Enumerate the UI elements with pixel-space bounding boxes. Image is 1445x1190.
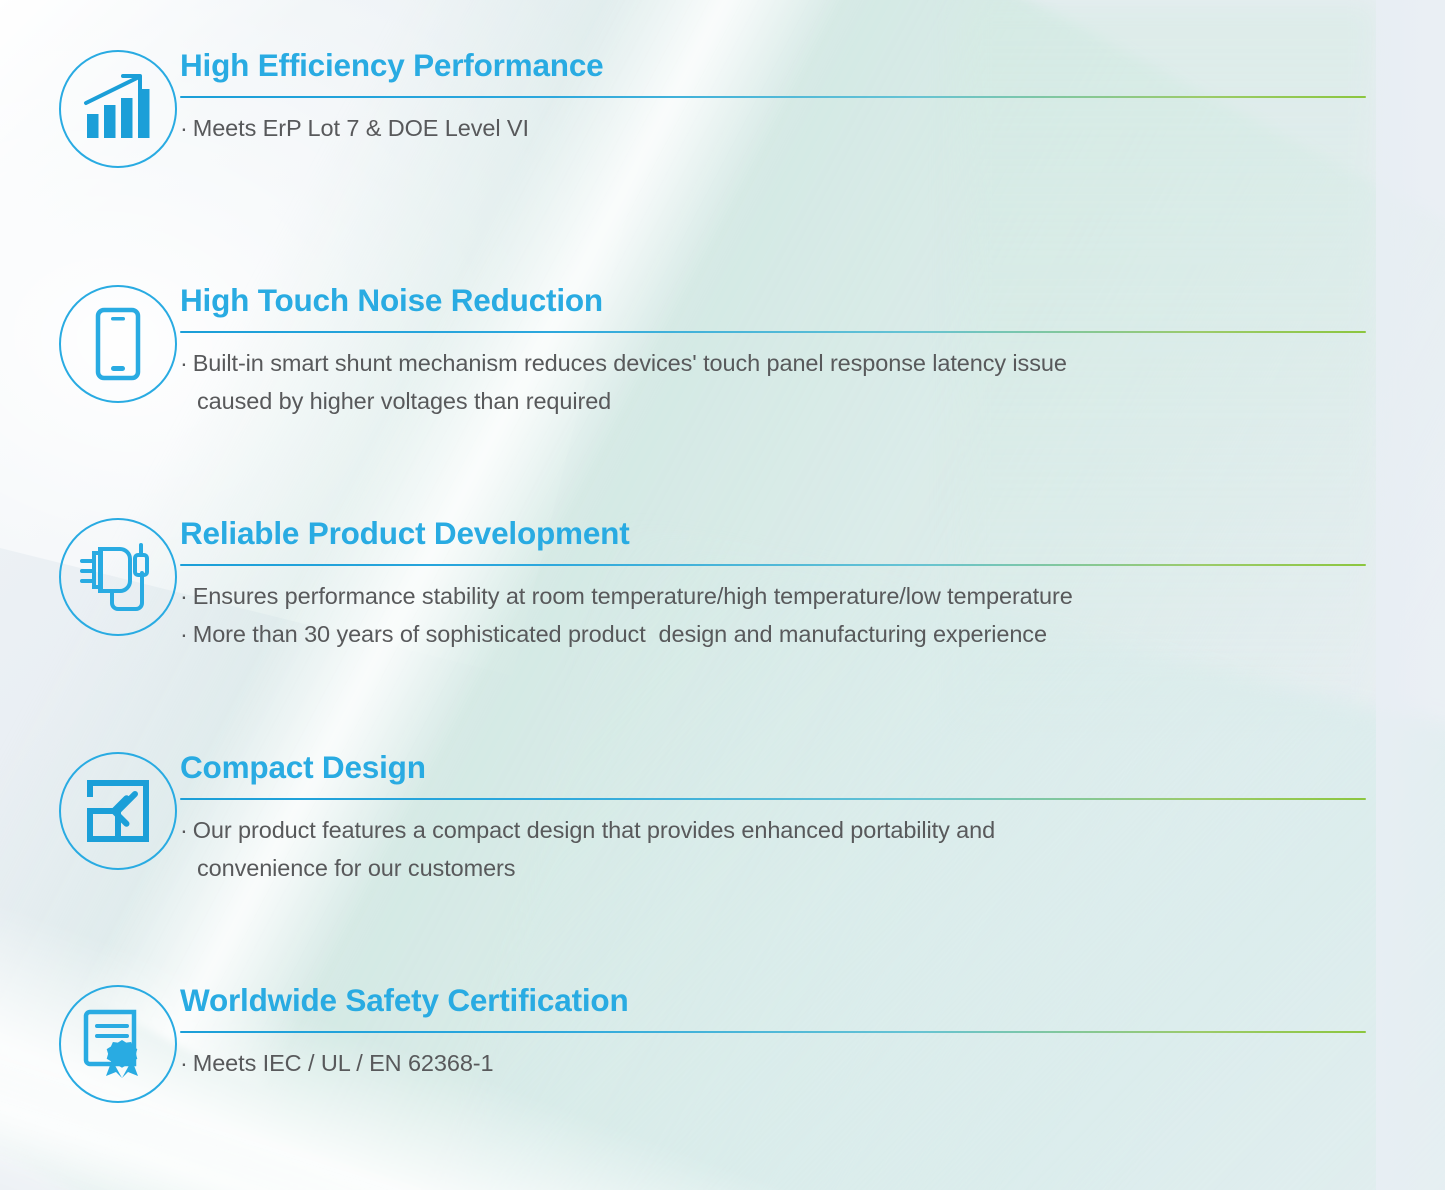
- feature-row-1: High Efficiency Performance ·Meets ErP L…: [56, 50, 1366, 168]
- bg-right-edge-strip: [1376, 0, 1445, 1190]
- bullet-item: ·Our product features a compact design t…: [180, 811, 1366, 887]
- feature-icon-wrap-3: [56, 518, 180, 636]
- bullet-text-continued: caused by higher voltages than required: [180, 382, 1366, 420]
- feature-bullets: ·Ensures performance stability at room t…: [180, 577, 1366, 653]
- feature-divider: [180, 798, 1366, 801]
- certificate-seal-icon: [59, 985, 177, 1103]
- feature-title: Reliable Product Development: [180, 518, 1366, 550]
- bullet-item: ·Meets ErP Lot 7 & DOE Level VI: [180, 109, 1366, 147]
- bullet-marker: ·: [180, 621, 188, 647]
- bullet-marker: ·: [180, 115, 188, 141]
- smartphone-icon: [59, 285, 177, 403]
- bullet-text: Our product features a compact design th…: [193, 817, 995, 843]
- feature-icon-wrap-2: [56, 285, 180, 403]
- power-adapter-icon: [59, 518, 177, 636]
- feature-row-3: Reliable Product Development ·Ensures pe…: [56, 518, 1366, 653]
- bullet-item: ·Built-in smart shunt mechanism reduces …: [180, 344, 1366, 420]
- feature-title: Worldwide Safety Certification: [180, 985, 1366, 1017]
- feature-bullets: ·Meets IEC / UL / EN 62368-1: [180, 1044, 1366, 1082]
- bullet-text-continued: convenience for our customers: [180, 849, 1366, 887]
- feature-title: High Touch Noise Reduction: [180, 285, 1366, 317]
- bullet-item: ·Meets IEC / UL / EN 62368-1: [180, 1044, 1366, 1082]
- feature-divider: [180, 1031, 1366, 1034]
- bullet-text: Meets IEC / UL / EN 62368-1: [193, 1050, 494, 1076]
- feature-icon-wrap-4: [56, 752, 180, 870]
- bullet-text: Built-in smart shunt mechanism reduces d…: [193, 350, 1067, 376]
- feature-divider: [180, 96, 1366, 99]
- feature-text-1: High Efficiency Performance ·Meets ErP L…: [180, 50, 1366, 147]
- bullet-item: ·More than 30 years of sophisticated pro…: [180, 615, 1366, 653]
- bar-chart-growth-icon: [59, 50, 177, 168]
- feature-icon-wrap-1: [56, 50, 180, 168]
- feature-row-2: High Touch Noise Reduction ·Built-in sma…: [56, 285, 1366, 420]
- feature-title: High Efficiency Performance: [180, 50, 1366, 82]
- bullet-item: ·Ensures performance stability at room t…: [180, 577, 1366, 615]
- feature-text-2: High Touch Noise Reduction ·Built-in sma…: [180, 285, 1366, 420]
- feature-icon-wrap-5: [56, 985, 180, 1103]
- feature-row-5: Worldwide Safety Certification ·Meets IE…: [56, 985, 1366, 1103]
- feature-bullets: ·Built-in smart shunt mechanism reduces …: [180, 344, 1366, 420]
- bullet-marker: ·: [180, 583, 188, 609]
- feature-row-4: Compact Design ·Our product features a c…: [56, 752, 1366, 887]
- feature-text-3: Reliable Product Development ·Ensures pe…: [180, 518, 1366, 653]
- bullet-text: Ensures performance stability at room te…: [193, 583, 1073, 609]
- feature-bullets: ·Meets ErP Lot 7 & DOE Level VI: [180, 109, 1366, 147]
- feature-divider: [180, 331, 1366, 334]
- feature-divider: [180, 564, 1366, 567]
- bullet-text: More than 30 years of sophisticated prod…: [193, 621, 1047, 647]
- feature-title: Compact Design: [180, 752, 1366, 784]
- feature-text-5: Worldwide Safety Certification ·Meets IE…: [180, 985, 1366, 1082]
- compact-resize-icon: [59, 752, 177, 870]
- bullet-text: Meets ErP Lot 7 & DOE Level VI: [193, 115, 529, 141]
- bullet-marker: ·: [180, 350, 188, 376]
- bullet-marker: ·: [180, 1050, 188, 1076]
- feature-list-page: High Efficiency Performance ·Meets ErP L…: [0, 0, 1445, 1190]
- feature-text-4: Compact Design ·Our product features a c…: [180, 752, 1366, 887]
- feature-bullets: ·Our product features a compact design t…: [180, 811, 1366, 887]
- bullet-marker: ·: [180, 817, 188, 843]
